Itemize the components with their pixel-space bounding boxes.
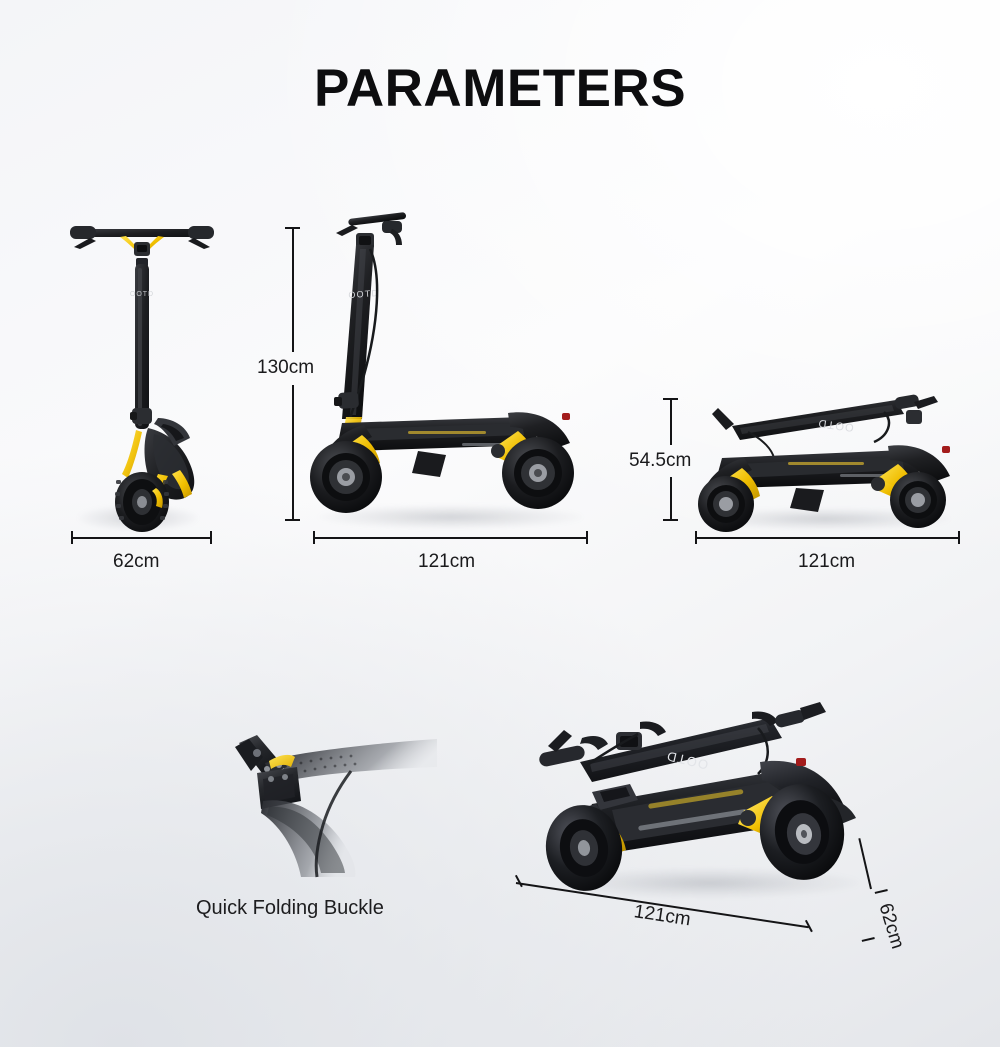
page-title: PARAMETERS: [0, 58, 1000, 119]
dimension-cap-bottom-perspective-width: [862, 937, 875, 942]
dimension-cap-top-unfolded-height: [285, 227, 300, 229]
dimension-label-folded-length: 121cm: [798, 551, 855, 573]
rear-wheel: [502, 437, 574, 509]
svg-text:OOTD: OOTD: [130, 291, 154, 298]
dimension-line-unfolded-height-upper: [292, 228, 294, 352]
rear-wheel: [890, 472, 946, 528]
front-wheel: [310, 441, 382, 513]
svg-text:OOTD: OOTD: [348, 288, 379, 300]
dimension-cap-left-front-width: [71, 531, 73, 544]
handlebar: [336, 212, 406, 249]
front-wheel: [115, 472, 169, 532]
dimension-cap-right-folded-length: [958, 531, 960, 544]
dimension-label-perspective-length: 121cm: [632, 901, 692, 931]
dimension-cap-bottom-unfolded-height: [285, 519, 300, 521]
dimension-cap-bottom-folded-height: [663, 519, 678, 521]
dimension-label-front-width: 62cm: [113, 551, 159, 573]
dimension-label-unfolded-height: 130cm: [257, 357, 314, 379]
front-view-scooter: OOTD: [62, 212, 222, 532]
dimension-cap-right-unfolded-length: [586, 531, 588, 544]
dimension-cap-left-unfolded-length: [313, 531, 315, 544]
front-wheel: [698, 476, 754, 532]
side-view-scooter-folded: OOTD: [688, 392, 968, 532]
dimension-line-unfolded-height-lower: [292, 385, 294, 520]
dimension-label-perspective-width: 62cm: [873, 901, 908, 952]
product-parameters-page: PARAMETERS: [0, 0, 1000, 1047]
buckle-caption: Quick Folding Buckle: [196, 897, 384, 920]
dimension-line-front-width: [71, 537, 212, 539]
dimension-line-folded-height-lower: [670, 477, 672, 520]
side-view-scooter-unfolded: OOTD: [312, 205, 592, 530]
dimension-label-folded-height: 54.5cm: [629, 450, 691, 472]
dimension-cap-top-folded-height: [663, 398, 678, 400]
handlebar-grip: [283, 739, 437, 781]
dimension-line-unfolded-length: [313, 537, 588, 539]
dimension-line-folded-length: [695, 537, 960, 539]
stem-column: OOTD: [334, 245, 380, 429]
perspective-view-scooter-folded: OOTD: [520, 700, 890, 890]
dimension-cap-left-folded-length: [695, 531, 697, 544]
handlebar: [70, 226, 214, 267]
front-fender: [261, 800, 355, 877]
dimension-cap-right-front-width: [210, 531, 212, 544]
dimension-line-folded-height-upper: [670, 399, 672, 445]
quick-folding-buckle-detail: [205, 705, 440, 880]
dimension-label-unfolded-length: 121cm: [418, 551, 475, 573]
